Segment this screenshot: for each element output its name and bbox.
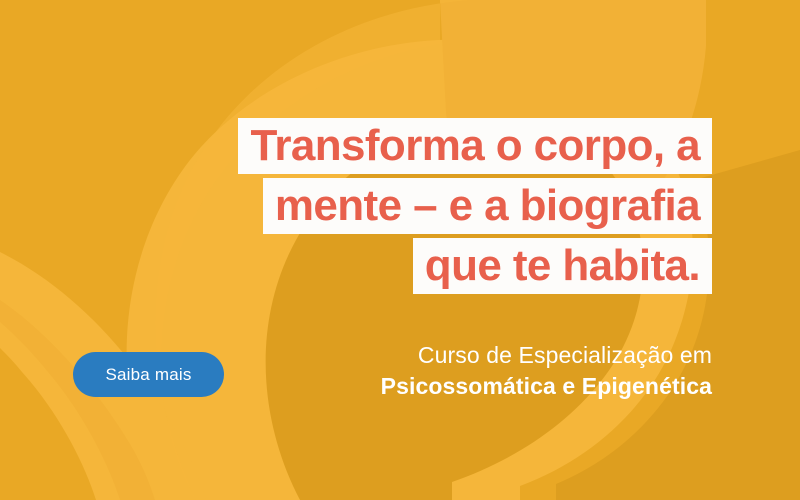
promotional-banner: Transforma o corpo, a mente – e a biogra… — [0, 0, 800, 500]
headline-line-3-text: que te habita. — [413, 238, 712, 294]
headline-line-1: Transforma o corpo, a — [0, 118, 712, 174]
headline-line-2: mente – e a biografia — [0, 178, 712, 234]
headline: Transforma o corpo, a mente – e a biogra… — [0, 118, 712, 294]
headline-line-1-text: Transforma o corpo, a — [238, 118, 712, 174]
banner-content: Transforma o corpo, a mente – e a biogra… — [0, 0, 800, 500]
headline-line-2-text: mente – e a biografia — [263, 178, 712, 234]
headline-line-3: que te habita. — [0, 238, 712, 294]
saiba-mais-button[interactable]: Saiba mais — [73, 352, 224, 397]
